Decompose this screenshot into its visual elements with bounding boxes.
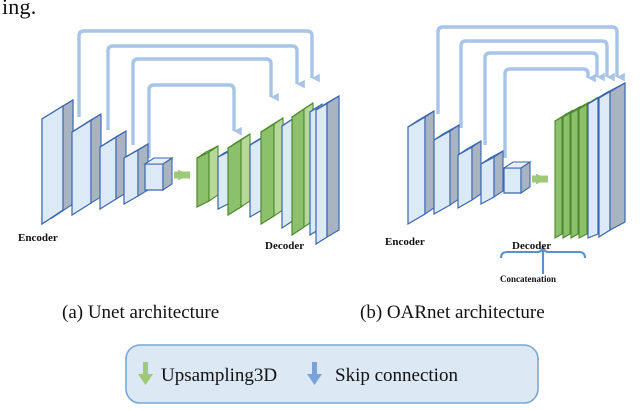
skip-connection-path-4 [149, 85, 234, 158]
encoder-block-5 [145, 158, 172, 190]
caption-unet: (a) Unet architecture [62, 302, 219, 324]
label-encoder-oarnet: Encoder [385, 236, 425, 248]
oarnet-decoder-blocks [555, 83, 625, 238]
label-decoder-oarnet: Decoder [512, 240, 551, 252]
oarnet-encoder-blocks [408, 111, 530, 224]
encoder-block-1 [42, 100, 73, 224]
legend-label-upsampling: Upsampling3D [161, 365, 277, 387]
label-concatenation: Concatenation [500, 274, 556, 284]
unet-decoder-blocks [197, 96, 339, 244]
oarnet-encoder-block-5 [504, 162, 530, 193]
oarnet-decoder-output-block [599, 83, 625, 237]
oarnet-encoder-block-3 [458, 141, 481, 208]
label-encoder-unet: Encoder [18, 232, 58, 244]
decoder-block-green-1 [197, 146, 218, 207]
decoder-block-green-2 [228, 134, 250, 215]
architecture-diagram-svg [0, 0, 640, 410]
decoder-block-green-3 [261, 118, 283, 224]
skip-connection-path-1 [79, 31, 312, 117]
legend-label-skip: Skip connection [335, 365, 458, 387]
label-decoder-unet: Decoder [265, 240, 304, 252]
oarnet-encoder-block-2 [434, 125, 459, 214]
encoder-block-3 [100, 131, 126, 209]
oarnet-encoder-block-4 [481, 151, 503, 204]
caption-oarnet: (b) OARnet architecture [360, 302, 545, 324]
decoder-output-block [316, 96, 339, 244]
figure-canvas: ing. [0, 0, 640, 410]
skip-connection-path-3 [133, 59, 271, 145]
oarnet-encoder-block-1 [408, 111, 434, 224]
encoder-block-2 [72, 114, 101, 215]
